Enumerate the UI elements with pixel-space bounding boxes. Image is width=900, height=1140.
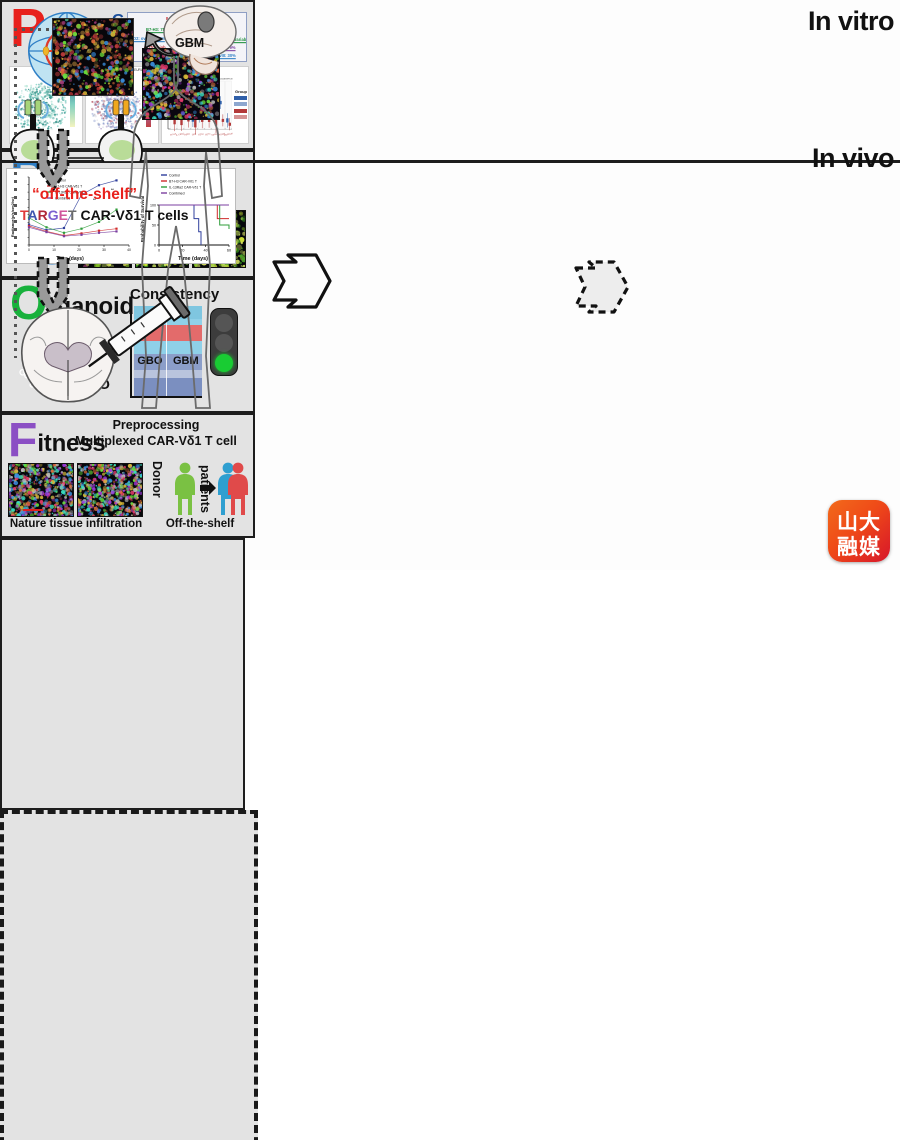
svg-text:30: 30 (102, 248, 106, 252)
patient-tissue-image (52, 18, 134, 96)
target-letter: A (28, 207, 38, 223)
scale-bar (23, 509, 43, 511)
target-letter: E (59, 207, 68, 223)
tissue-image (77, 463, 143, 517)
panel-clinical-translation: GBM “off-the-shelf” TARGET CAR-Vδ1 T cel… (0, 810, 258, 1140)
dashed-arrow-right-icon (574, 258, 634, 316)
target-suffix: CAR-Vδ1 T cells (77, 207, 189, 223)
multiplexed-label: Multiplexed CAR-Vδ1 T cell (58, 434, 254, 450)
figure-canvas: P recise IL-13Ra2: over 75% B7-H3: 78% H… (0, 0, 900, 570)
fitness-image-row (8, 463, 143, 517)
dashed-arrow-down-icon-1 (30, 128, 76, 192)
panel-center-experiments: In vitro In vivo G O (0, 538, 245, 810)
target-letter: G (48, 207, 59, 223)
watermark-line-2: 融媒 (828, 531, 890, 561)
gbm-label: GBM (175, 36, 204, 50)
patient-tissue-svg (53, 19, 133, 95)
off-the-shelf-caption: Off-the-shelf (148, 518, 252, 530)
patients-figure-icon (214, 461, 250, 517)
fitness-initial: F (8, 421, 37, 462)
target-letter: T (20, 207, 28, 223)
watermark-logo: 山大 融媒 (828, 500, 890, 562)
target-letter: T (68, 207, 77, 223)
svg-text:20: 20 (77, 248, 81, 252)
tissue-svg (78, 464, 142, 516)
preprocessing-label: Preprocessing (58, 418, 254, 434)
off-the-shelf-quote: “off-the-shelf” (32, 186, 137, 204)
svg-text:0: 0 (28, 248, 30, 252)
svg-text:10: 10 (52, 248, 56, 252)
fitness-headings: Preprocessing Multiplexed CAR-Vδ1 T cell (58, 418, 254, 449)
donor-to-patients-diagram: Donor pat (152, 461, 252, 517)
donor-label: Donor (150, 461, 164, 498)
panel-fitness: F itness Preprocessing Multiplexed CAR-V… (0, 413, 255, 538)
target-car-line: TARGET CAR-Vδ1 T cells (20, 207, 189, 223)
solid-arrow-right-icon (272, 250, 338, 312)
nature-infiltration-caption: Nature tissue infiltration (6, 518, 146, 530)
target-letter: R (38, 207, 48, 223)
syringe-icon (60, 268, 220, 388)
in-vitro-label: In vitro (808, 6, 894, 37)
patients-label: patients (198, 465, 212, 513)
tissue-image (8, 463, 74, 517)
in-vivo-label: In vivo (812, 143, 894, 174)
donor-figure-icon (170, 461, 200, 517)
